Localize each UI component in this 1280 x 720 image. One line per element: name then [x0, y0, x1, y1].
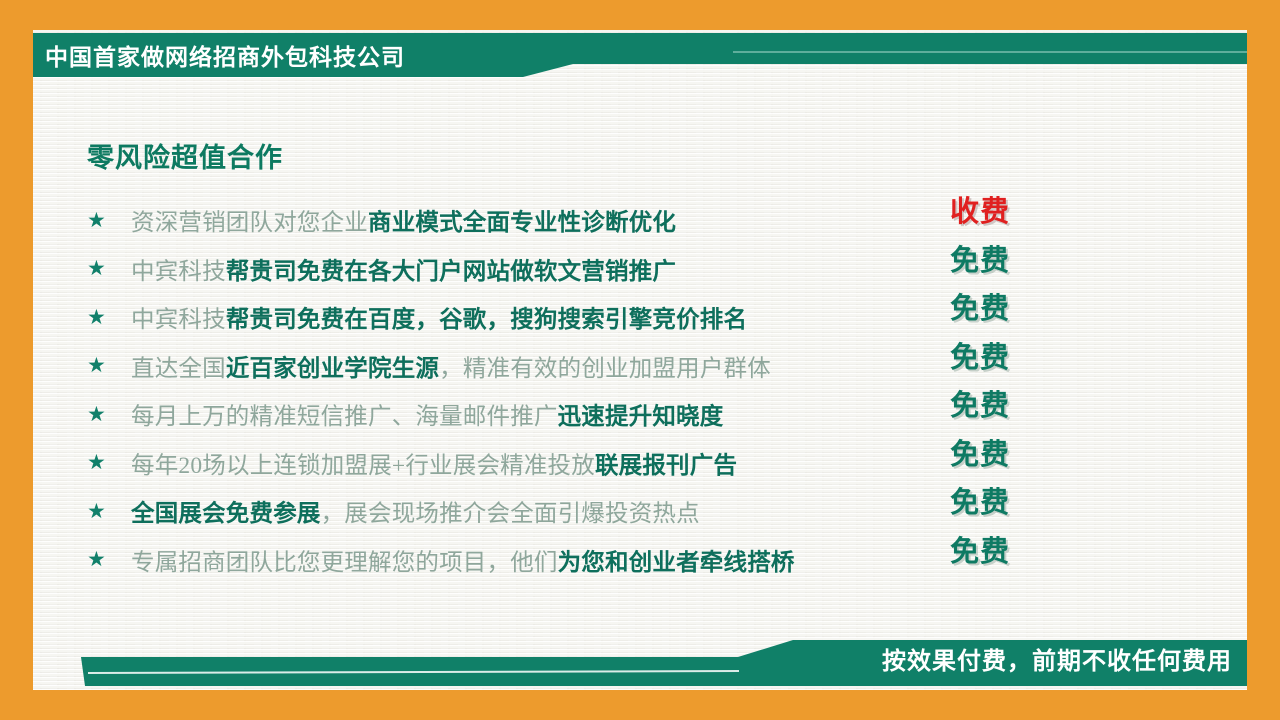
benefit-text-plain: ，展会现场推介会全面引爆投资热点 — [321, 501, 700, 527]
benefit-row: ★资深营销团队对您企业商业模式全面专业性诊断优化 — [87, 196, 1087, 245]
star-bullet-icon: ★ — [87, 210, 131, 231]
price-badge: 免费 — [950, 483, 1070, 532]
star-bullet-icon: ★ — [87, 307, 131, 328]
benefit-text: 中宾科技帮贵司免费在百度，谷歌，搜狗搜索引擎竞价排名 — [131, 300, 747, 334]
star-bullet-icon: ★ — [87, 355, 131, 376]
benefit-text: 直达全国近百家创业学院生源，精准有效的创业加盟用户群体 — [131, 349, 771, 383]
benefit-text-plain: 中宾科技 — [131, 307, 226, 333]
star-bullet-icon: ★ — [87, 549, 131, 570]
benefit-text-emphasis: 联展报刊广告 — [595, 453, 737, 479]
benefit-text-plain: 资深营销团队对您企业 — [131, 210, 368, 236]
price-badge: 免费 — [950, 338, 1070, 387]
star-bullet-icon: ★ — [87, 404, 131, 425]
price-badge: 免费 — [950, 241, 1070, 290]
benefit-text: 中宾科技帮贵司免费在各大门户网站做软文营销推广 — [131, 252, 676, 286]
benefit-row: ★中宾科技帮贵司免费在各大门户网站做软文营销推广 — [87, 245, 1087, 294]
benefit-row: ★每月上万的精准短信推广、海量邮件推广迅速提升知晓度 — [87, 390, 1087, 439]
benefit-text: 专属招商团队比您更理解您的项目，他们为您和创业者牵线搭桥 — [131, 543, 795, 577]
price-badge: 免费 — [950, 386, 1070, 435]
benefit-text-plain: 每年20场以上连锁加盟展+行业展会精准投放 — [131, 453, 595, 479]
price-badge: 收费 — [950, 192, 1070, 241]
benefit-row: ★专属招商团队比您更理解您的项目，他们为您和创业者牵线搭桥 — [87, 536, 1087, 585]
benefit-row: ★中宾科技帮贵司免费在百度，谷歌，搜狗搜索引擎竞价排名 — [87, 293, 1087, 342]
slide-root: 中国首家做网络招商外包科技公司 零风险超值合作 ★资深营销团队对您企业商业模式全… — [0, 0, 1280, 720]
benefit-row: ★直达全国近百家创业学院生源，精准有效的创业加盟用户群体 — [87, 342, 1087, 391]
benefit-text: 每月上万的精准短信推广、海量邮件推广迅速提升知晓度 — [131, 397, 724, 431]
price-badge: 免费 — [950, 289, 1070, 338]
benefit-list: ★资深营销团队对您企业商业模式全面专业性诊断优化★中宾科技帮贵司免费在各大门户网… — [87, 196, 1087, 584]
benefit-text-emphasis: 商业模式全面专业性诊断优化 — [368, 210, 676, 236]
benefit-text-plain: ，精准有效的创业加盟用户群体 — [439, 356, 771, 382]
benefit-text-emphasis: 全国展会免费参展 — [131, 501, 321, 527]
star-bullet-icon: ★ — [87, 258, 131, 279]
price-badge: 免费 — [950, 532, 1070, 581]
benefit-text-emphasis: 帮贵司免费在百度，谷歌，搜狗搜索引擎竞价排名 — [226, 307, 747, 333]
benefit-text: 资深营销团队对您企业商业模式全面专业性诊断优化 — [131, 203, 676, 237]
benefit-text-plain: 直达全国 — [131, 356, 226, 382]
benefit-text-plain: 每月上万的精准短信推广、海量邮件推广 — [131, 404, 558, 430]
price-column: 收费免费免费免费免费免费免费免费 — [950, 192, 1070, 580]
benefit-text-emphasis: 为您和创业者牵线搭桥 — [558, 550, 795, 576]
header-title: 中国首家做网络招商外包科技公司 — [45, 38, 405, 72]
star-bullet-icon: ★ — [87, 501, 131, 522]
benefit-row: ★全国展会免费参展，展会现场推介会全面引爆投资热点 — [87, 487, 1087, 536]
benefit-text-plain: 专属招商团队比您更理解您的项目，他们 — [131, 550, 558, 576]
benefit-text: 全国展会免费参展，展会现场推介会全面引爆投资热点 — [131, 494, 700, 528]
benefit-text: 每年20场以上连锁加盟展+行业展会精准投放联展报刊广告 — [131, 446, 737, 480]
benefit-text-emphasis: 近百家创业学院生源 — [226, 356, 439, 382]
benefit-text-emphasis: 帮贵司免费在各大门户网站做软文营销推广 — [226, 259, 676, 285]
page-title: 零风险超值合作 — [87, 136, 283, 175]
footer-tagline: 按效果付费，前期不收任何费用 — [882, 641, 1232, 676]
benefit-row: ★每年20场以上连锁加盟展+行业展会精准投放联展报刊广告 — [87, 439, 1087, 488]
benefit-text-plain: 中宾科技 — [131, 259, 226, 285]
benefit-text-emphasis: 迅速提升知晓度 — [558, 404, 724, 430]
price-badge: 免费 — [950, 435, 1070, 484]
star-bullet-icon: ★ — [87, 452, 131, 473]
